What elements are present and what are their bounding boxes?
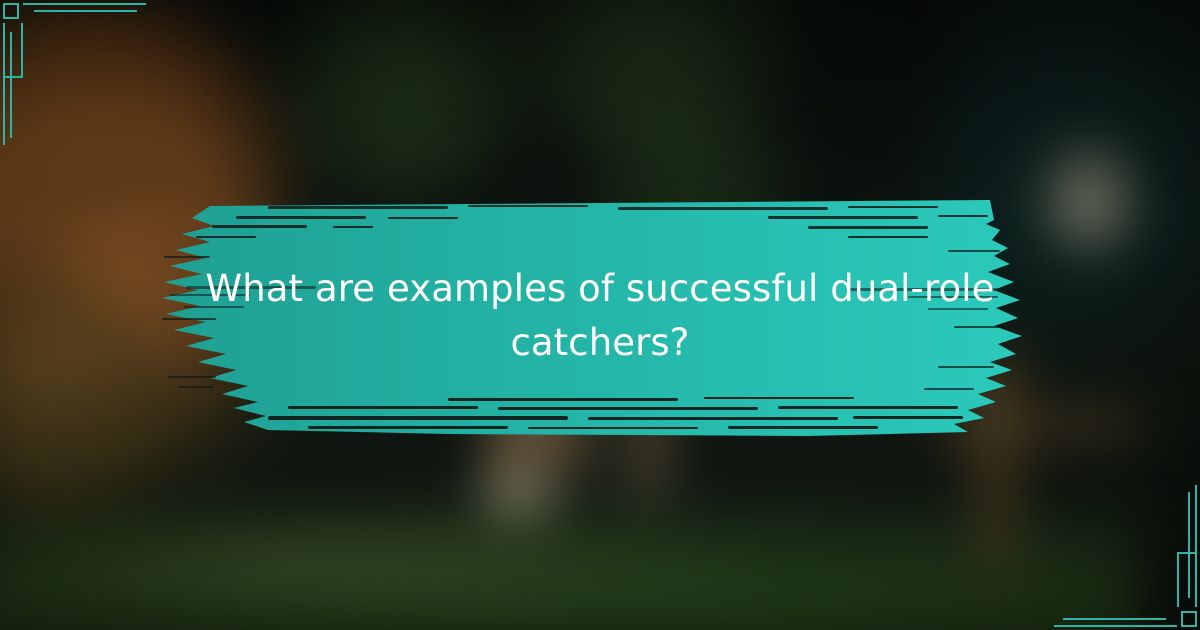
corner-line-vertical-inner: [10, 32, 12, 138]
corner-line-horizontal-inner: [1063, 618, 1166, 620]
headline-line-1: What are examples of successful dual-rol…: [206, 262, 995, 316]
corner-line-horizontal-outer: [1054, 625, 1177, 627]
corner-line-elbow-vertical: [21, 23, 23, 78]
corner-line-vertical-inner: [1188, 492, 1190, 598]
corner-bracket-bottom-right: [1040, 470, 1200, 630]
headline-banner: What are examples of successful dual-rol…: [148, 190, 1052, 442]
corner-line-elbow-vertical: [1177, 552, 1179, 607]
corner-bracket-top-left: [0, 0, 160, 160]
corner-line-vertical-outer: [1195, 485, 1197, 607]
corner-line-vertical-outer: [3, 23, 5, 145]
corner-line-elbow-horizontal: [1177, 552, 1197, 554]
corner-line-horizontal-inner: [34, 10, 137, 12]
corner-line-elbow-horizontal: [3, 76, 23, 78]
headline-line-2: catchers?: [510, 316, 689, 370]
corner-square-icon: [1181, 611, 1197, 627]
corner-line-horizontal-outer: [23, 3, 146, 5]
headline-text-block: What are examples of successful dual-rol…: [148, 190, 1052, 442]
social-quote-card: What are examples of successful dual-rol…: [0, 0, 1200, 630]
corner-square-icon: [3, 3, 19, 19]
